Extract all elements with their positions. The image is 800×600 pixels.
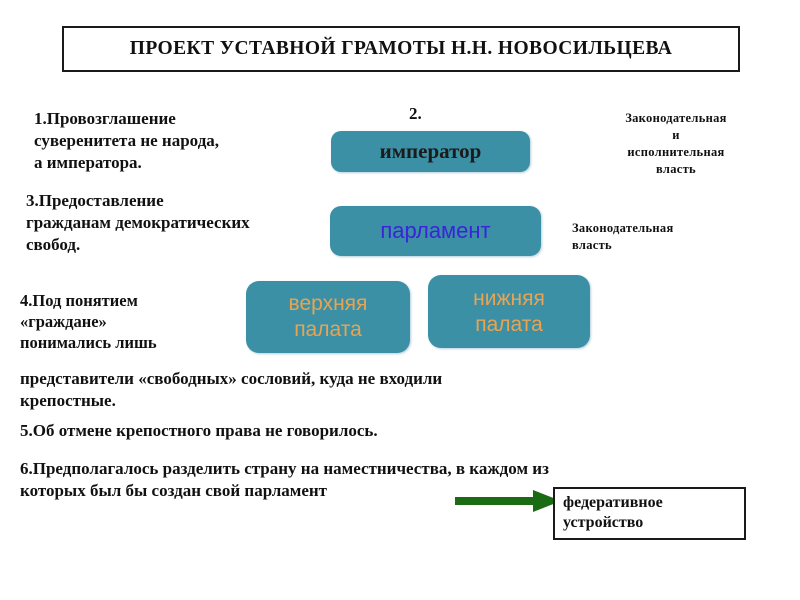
annotation-legislative-power: Законодательная власть <box>572 220 780 254</box>
point-5-text: 5.Об отмене крепостного права не говорил… <box>20 420 620 442</box>
node-lower-chamber-label: нижняя палата <box>473 286 545 337</box>
node-upper-chamber[interactable]: верхняя палата <box>246 281 410 353</box>
point-4-text: 4.Под понятием «граждане» понимались лиш… <box>20 290 250 353</box>
node-emperor-label: император <box>380 139 482 164</box>
page-title: ПРОЕКТ УСТАВНОЙ ГРАМОТЫ Н.Н. НОВОСИЛЬЦЕВ… <box>130 38 672 60</box>
slide-canvas: ПРОЕКТ УСТАВНОЙ ГРАМОТЫ Н.Н. НОВОСИЛЬЦЕВ… <box>0 0 800 600</box>
node-upper-chamber-label: верхняя палата <box>289 291 368 342</box>
right-arrow-icon <box>455 488 563 514</box>
slide-title-box: ПРОЕКТ УСТАВНОЙ ГРАМОТЫ Н.Н. НОВОСИЛЬЦЕВ… <box>62 26 740 72</box>
node-parliament-label: парламент <box>380 218 490 244</box>
point-3-text: 3.Предоставление гражданам демократическ… <box>26 190 376 255</box>
point-2-marker: 2. <box>409 104 422 124</box>
annotation-executive-legislative-power: Законодательная и исполнительная власть <box>572 110 780 178</box>
node-parliament[interactable]: парламент <box>330 206 541 256</box>
node-federative-structure-label: федеративное устройство <box>563 493 744 533</box>
point-1-text: 1.Провозглашение суверенитета не народа,… <box>34 108 354 173</box>
node-lower-chamber[interactable]: нижняя палата <box>428 275 590 348</box>
node-emperor[interactable]: император <box>331 131 530 172</box>
point-4-continuation-text: представители «свободных» сословий, куда… <box>20 368 580 412</box>
node-federative-structure[interactable]: федеративное устройство <box>553 487 746 540</box>
